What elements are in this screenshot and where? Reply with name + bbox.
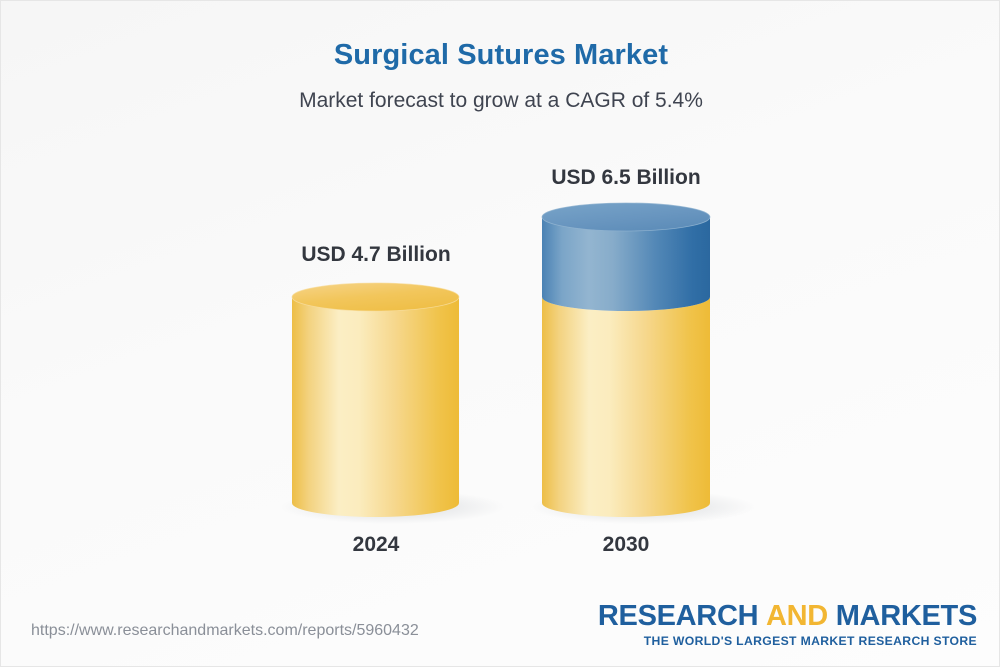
logo-word-markets: MARKETS <box>836 600 977 632</box>
value-label-2030: USD 6.5 Billion <box>516 166 736 190</box>
category-label-2030: 2030 <box>546 533 706 557</box>
cylinder-chart <box>1 1 1000 667</box>
logo-word-and: AND <box>766 600 828 632</box>
research-and-markets-logo: RESEARCH AND MARKETS THE WORLD'S LARGEST… <box>598 602 977 648</box>
category-label-2024: 2024 <box>296 533 456 557</box>
logo-word-research: RESEARCH <box>598 600 758 632</box>
logo-tagline: THE WORLD'S LARGEST MARKET RESEARCH STOR… <box>598 634 977 648</box>
logo-wordmark: RESEARCH AND MARKETS <box>598 602 977 631</box>
bar-2030-base-segment <box>542 297 710 517</box>
chart-canvas: Surgical Sutures Market Market forecast … <box>0 0 1000 667</box>
source-url[interactable]: https://www.researchandmarkets.com/repor… <box>31 622 419 640</box>
bar-2030 <box>542 203 710 517</box>
value-label-2024: USD 4.7 Billion <box>266 243 486 267</box>
bar-2024 <box>292 283 459 517</box>
